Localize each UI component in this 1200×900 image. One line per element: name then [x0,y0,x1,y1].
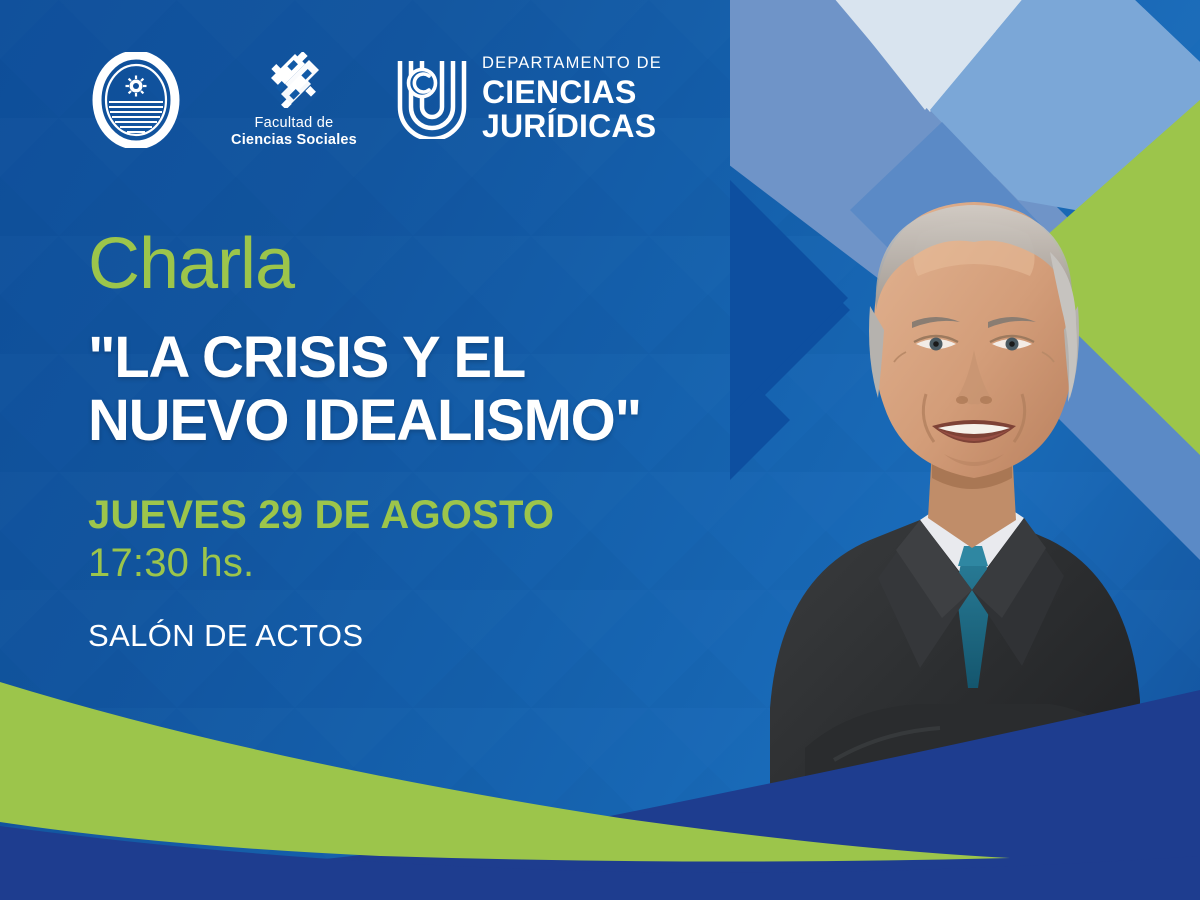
cj-line1: DEPARTAMENTO DE [482,55,662,72]
event-kicker: Charla [88,228,708,300]
facultad-ciencias-sociales-logo: Facultad de Ciencias Sociales [224,52,364,148]
departamento-ciencias-juridicas-logo: DEPARTAMENTO DE CIENCIAS JURÍDICAS [396,52,662,142]
logo-row: Facultad de Ciencias Sociales DEPARTAMEN… [88,52,662,148]
facultad-mark-icon [265,52,323,108]
facultad-line1: Facultad de [254,115,333,131]
event-date: JUEVES 29 DE AGOSTO [88,494,708,536]
cj-monogram-shield-icon [396,57,468,139]
event-title-line2: NUEVO IDEALISMO" [88,389,708,452]
poster-canvas: Facultad de Ciencias Sociales DEPARTAMEN… [0,0,1200,900]
cj-line2: CIENCIAS [482,76,662,108]
cj-line3: JURÍDICAS [482,110,662,142]
bottom-swoosh-artwork [0,670,1200,900]
event-venue: SALÓN DE ACTOS [88,620,708,653]
event-time: 17:30 hs. [88,542,708,584]
main-content: Charla "LA CRISIS Y EL NUEVO IDEALISMO" … [88,228,708,653]
event-title: "LA CRISIS Y EL NUEVO IDEALISMO" [88,326,708,452]
una-seal-logo [88,52,184,148]
facultad-line2: Ciencias Sociales [231,132,357,148]
event-title-line1: "LA CRISIS Y EL [88,325,525,390]
